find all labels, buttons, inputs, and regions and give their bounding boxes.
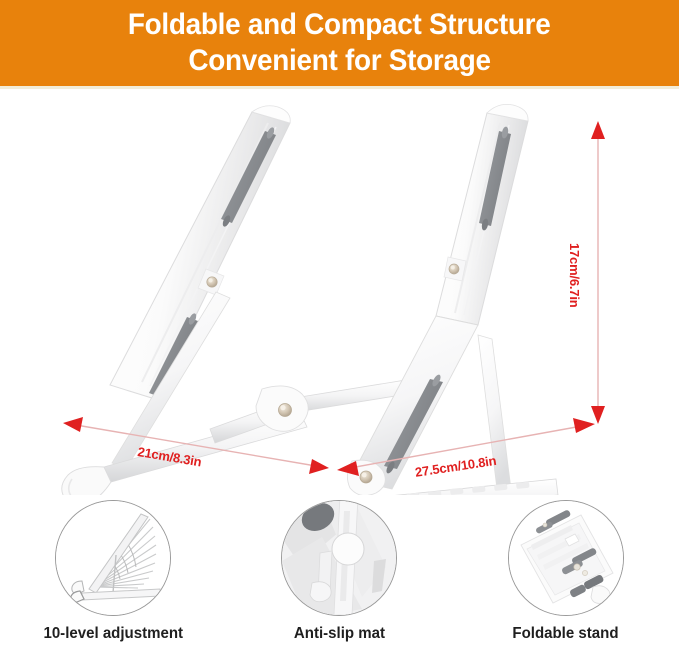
feature-caption-foldable-stand: Foldable stand <box>513 625 619 643</box>
banner-title-line-2: Convenient for Storage <box>188 43 490 79</box>
left-support-arm <box>110 106 290 399</box>
dimension-arrow-height <box>591 121 605 424</box>
closeup-pad-icon <box>281 500 397 616</box>
folded-flat-stand-icon <box>508 500 624 616</box>
feature-ten-level-adjustment: 10-level adjustment <box>6 500 220 643</box>
header-banner: Foldable and Compact Structure Convenien… <box>0 0 679 86</box>
right-rear-leg <box>478 335 512 495</box>
right-support-arm <box>436 104 528 325</box>
feature-callout-row: 10-level adjustment <box>0 500 679 665</box>
feature-foldable-stand: Foldable stand <box>459 500 673 643</box>
banner-title-line-1: Foldable and Compact Structure <box>128 7 551 43</box>
dimension-label-height: 17cm/6.7in <box>567 243 582 308</box>
right-base-rail <box>297 479 558 495</box>
multi-angle-fan-icon <box>55 500 171 616</box>
product-infographic: Foldable and Compact Structure Convenien… <box>0 0 679 665</box>
feature-caption-ten-level-adjustment: 10-level adjustment <box>43 625 183 643</box>
feature-anti-slip-mat: Anti-slip mat <box>232 500 446 643</box>
feature-caption-anti-slip-mat: Anti-slip mat <box>294 625 385 643</box>
